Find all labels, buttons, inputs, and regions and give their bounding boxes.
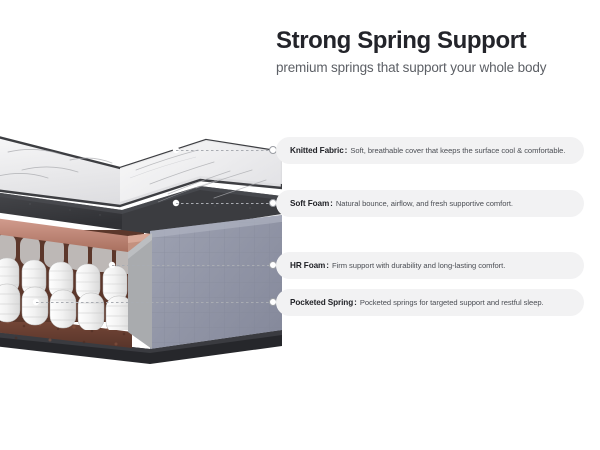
- mattress-cutaway-illustration: [0, 118, 282, 368]
- callout-label: Pocketed Spring: [290, 298, 353, 307]
- callout-label: Soft Foam: [290, 199, 329, 208]
- callout-separator: :: [329, 199, 336, 208]
- callout-knitted-fabric[interactable]: Knitted Fabric : Soft, breathable cover …: [276, 137, 584, 164]
- leader-line-pocketed-spring: [36, 302, 276, 303]
- callout-separator: :: [344, 146, 351, 155]
- leader-line-knitted-fabric: [176, 150, 276, 151]
- callout-pill[interactable]: Knitted Fabric : Soft, breathable cover …: [276, 137, 584, 164]
- leader-line-hr-foam: [112, 265, 276, 266]
- header: Strong Spring Support premium springs th…: [276, 28, 588, 75]
- callout-description: Natural bounce, airflow, and fresh suppo…: [336, 199, 513, 208]
- product-feature-page: Strong Spring Support premium springs th…: [0, 0, 600, 450]
- callout-list: Knitted Fabric : Soft, breathable cover …: [252, 130, 592, 320]
- callout-label: Knitted Fabric: [290, 146, 344, 155]
- callout-pill[interactable]: HR Foam : Firm support with durability a…: [276, 252, 584, 279]
- callout-hr-foam[interactable]: HR Foam : Firm support with durability a…: [276, 252, 584, 279]
- callout-pill[interactable]: Soft Foam : Natural bounce, airflow, and…: [276, 190, 584, 217]
- callout-description: Firm support with durability and long-la…: [332, 261, 505, 270]
- page-title: Strong Spring Support: [276, 28, 588, 55]
- leader-line-soft-foam: [176, 203, 276, 204]
- callout-separator: :: [325, 261, 332, 270]
- callout-description: Pocketed springs for targeted support an…: [360, 298, 544, 307]
- page-subtitle: premium springs that support your whole …: [276, 60, 588, 75]
- callout-pocketed-spring[interactable]: Pocketed Spring : Pocketed springs for t…: [276, 289, 584, 316]
- callout-soft-foam[interactable]: Soft Foam : Natural bounce, airflow, and…: [276, 190, 584, 217]
- callout-pill[interactable]: Pocketed Spring : Pocketed springs for t…: [276, 289, 584, 316]
- callout-separator: :: [353, 298, 360, 307]
- callout-label: HR Foam: [290, 261, 325, 270]
- callout-description: Soft, breathable cover that keeps the su…: [350, 146, 565, 155]
